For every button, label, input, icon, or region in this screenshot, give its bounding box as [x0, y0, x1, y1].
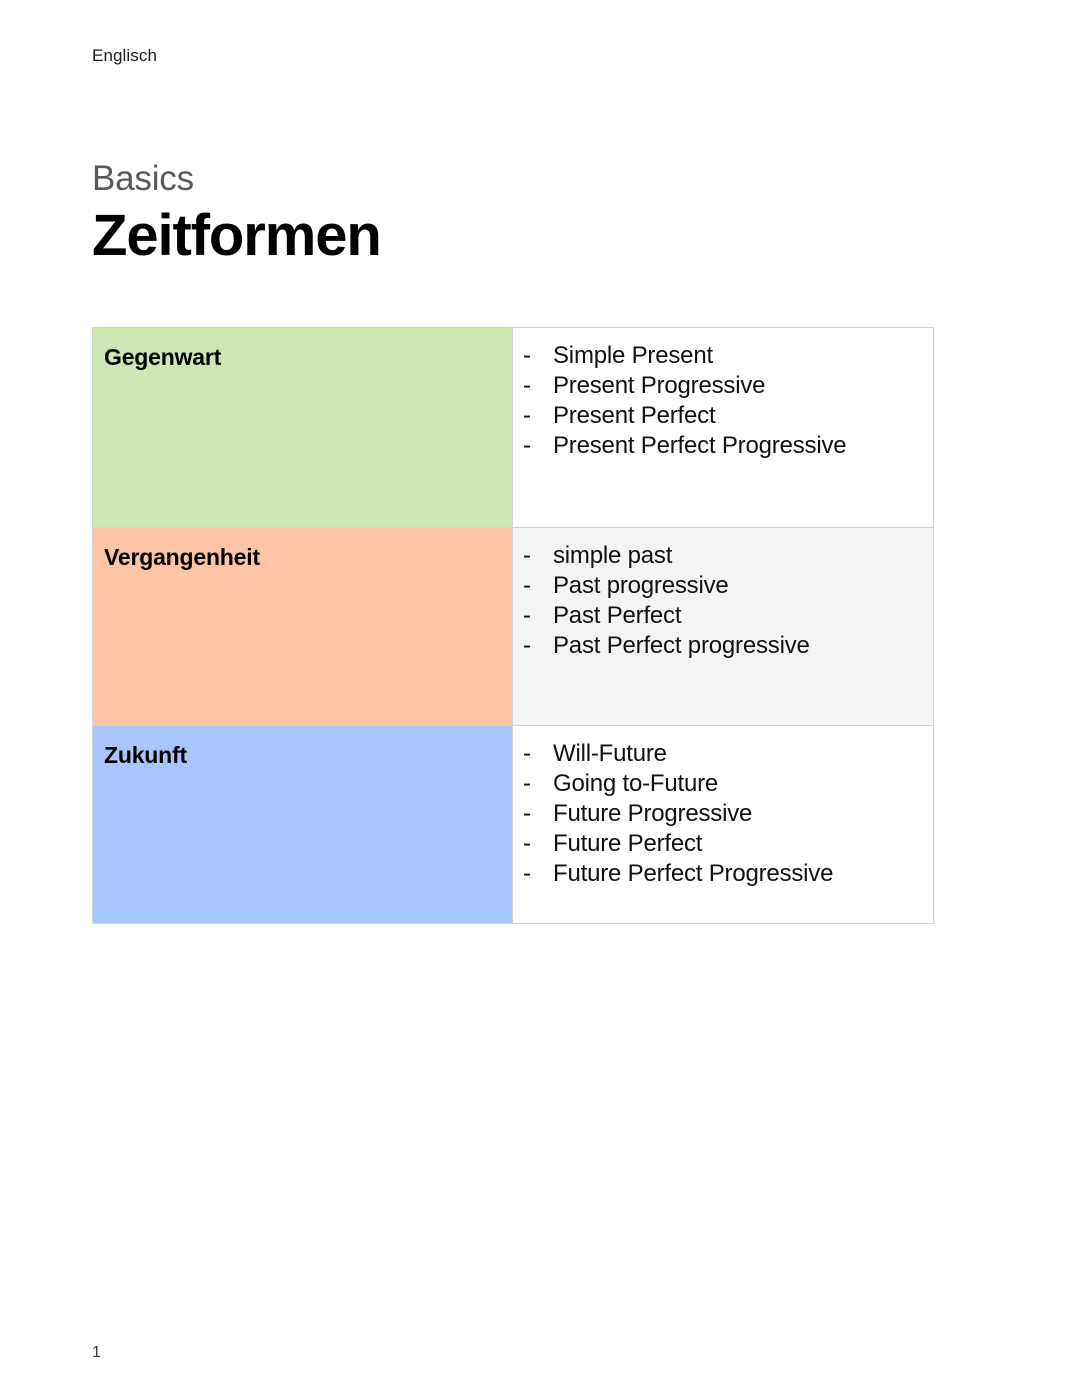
dash-bullet-icon: - — [513, 739, 553, 769]
dash-bullet-icon: - — [513, 601, 553, 631]
list-item-label: simple past — [553, 541, 672, 571]
dash-bullet-icon: - — [513, 631, 553, 661]
list-item: - Past Perfect — [513, 601, 933, 631]
list-item: - Will-Future — [513, 739, 933, 769]
list-item: - Past Perfect progressive — [513, 631, 933, 661]
dash-bullet-icon: - — [513, 829, 553, 859]
list-item: - Past progressive — [513, 571, 933, 601]
category-label: Zukunft — [93, 726, 512, 769]
list-item: - Present Progressive — [513, 371, 933, 401]
items-wrapper: - Will-Future - Going to-Future - Future… — [513, 726, 933, 899]
list-item: - Future Progressive — [513, 799, 933, 829]
list-item-label: Present Perfect Progressive — [553, 431, 846, 461]
list-item-label: Present Progressive — [553, 371, 765, 401]
dash-bullet-icon: - — [513, 859, 553, 889]
category-label: Gegenwart — [93, 328, 512, 371]
list-item-label: Present Perfect — [553, 401, 715, 431]
list-item-label: Past Perfect progressive — [553, 631, 810, 661]
table-cell-items: - simple past - Past progressive - Past … — [513, 528, 934, 726]
page-eyebrow: Basics — [92, 158, 381, 200]
table-cell-items: - Simple Present - Present Progressive -… — [513, 328, 934, 528]
list-item-label: Future Progressive — [553, 799, 752, 829]
table-cell-category: Gegenwart — [93, 328, 513, 528]
items-wrapper: - simple past - Past progressive - Past … — [513, 528, 933, 671]
table-cell-category: Vergangenheit — [93, 528, 513, 726]
list-item: - Future Perfect — [513, 829, 933, 859]
list-item: - Going to-Future — [513, 769, 933, 799]
page-number: 1 — [92, 1344, 101, 1362]
list-item-label: Past progressive — [553, 571, 729, 601]
table-cell-category: Zukunft — [93, 726, 513, 924]
list-item: - Present Perfect — [513, 401, 933, 431]
tense-list: - simple past - Past progressive - Past … — [513, 541, 933, 661]
list-item: - Present Perfect Progressive — [513, 431, 933, 461]
page-title: Zeitformen — [92, 202, 381, 270]
list-item: - Simple Present — [513, 341, 933, 371]
category-label: Vergangenheit — [93, 528, 512, 571]
items-wrapper: - Simple Present - Present Progressive -… — [513, 328, 933, 471]
dash-bullet-icon: - — [513, 571, 553, 601]
table-row: Gegenwart - Simple Present - Present Pro… — [93, 328, 934, 528]
tense-table: Gegenwart - Simple Present - Present Pro… — [92, 327, 934, 924]
list-item-label: Going to-Future — [553, 769, 718, 799]
tense-list: - Will-Future - Going to-Future - Future… — [513, 739, 933, 889]
title-block: Basics Zeitformen — [92, 158, 381, 270]
list-item-label: Future Perfect — [553, 829, 702, 859]
list-item-label: Simple Present — [553, 341, 713, 371]
table-row: Vergangenheit - simple past - Past progr… — [93, 528, 934, 726]
dash-bullet-icon: - — [513, 541, 553, 571]
dash-bullet-icon: - — [513, 769, 553, 799]
dash-bullet-icon: - — [513, 799, 553, 829]
list-item-label: Future Perfect Progressive — [553, 859, 833, 889]
document-page: Englisch Basics Zeitformen Gegenwart - — [0, 0, 1080, 1397]
table-cell-items: - Will-Future - Going to-Future - Future… — [513, 726, 934, 924]
tense-list: - Simple Present - Present Progressive -… — [513, 341, 933, 461]
table-row: Zukunft - Will-Future - Going to-Future — [93, 726, 934, 924]
dash-bullet-icon: - — [513, 341, 553, 371]
dash-bullet-icon: - — [513, 401, 553, 431]
list-item-label: Past Perfect — [553, 601, 681, 631]
dash-bullet-icon: - — [513, 431, 553, 461]
running-header: Englisch — [92, 46, 157, 66]
list-item: - simple past — [513, 541, 933, 571]
list-item: - Future Perfect Progressive — [513, 859, 933, 889]
list-item-label: Will-Future — [553, 739, 667, 769]
dash-bullet-icon: - — [513, 371, 553, 401]
